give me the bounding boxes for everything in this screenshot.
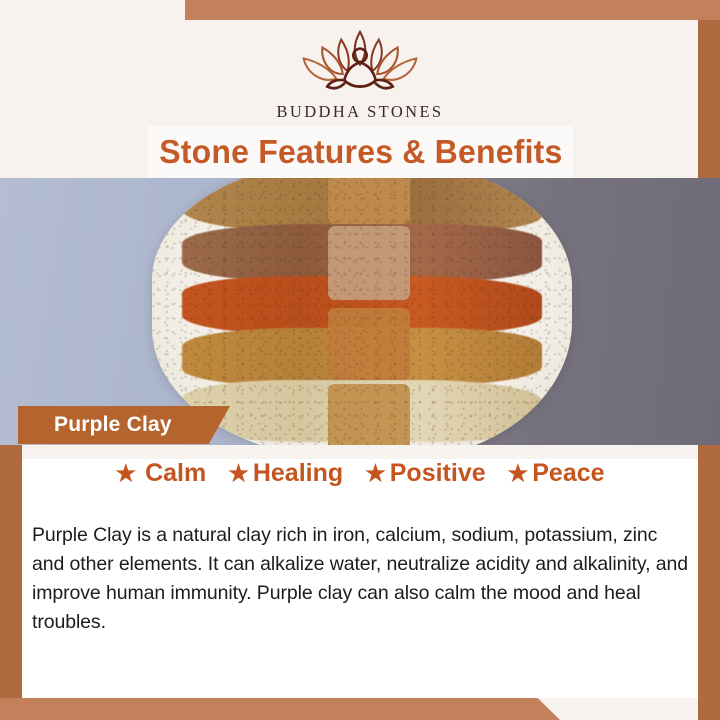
feature-item-healing: ★ Healing xyxy=(228,459,343,488)
frame-top-bar xyxy=(185,0,720,20)
feature-label: Positive xyxy=(390,459,486,488)
content-card: ★ Calm ★ Healing ★ Positive ★ Peace Purp… xyxy=(22,445,698,698)
star-icon: ★ xyxy=(508,462,529,485)
feature-list: ★ Calm ★ Healing ★ Positive ★ Peace xyxy=(22,459,698,488)
page-title: Stone Features & Benefits xyxy=(159,133,562,171)
infographic-page: BUDDHA STONES Stone Features & Benefits … xyxy=(0,0,720,720)
brand-name: BUDDHA STONES xyxy=(0,102,720,122)
frame-right-top-corner xyxy=(698,0,720,20)
star-icon: ★ xyxy=(228,462,249,485)
star-icon: ★ xyxy=(365,462,386,485)
brand-header: BUDDHA STONES xyxy=(0,24,720,122)
feature-label: Calm xyxy=(145,459,206,488)
star-icon: ★ xyxy=(115,462,136,485)
feature-item-positive: ★ Positive xyxy=(365,459,486,488)
feature-label: Healing xyxy=(253,459,343,488)
product-photo xyxy=(0,178,720,445)
product-description: Purple Clay is a natural clay rich in ir… xyxy=(32,521,692,637)
feature-item-calm: ★ Calm xyxy=(115,459,206,488)
frame-bottom-bar xyxy=(0,698,560,720)
clay-powder-plate xyxy=(152,178,572,445)
product-badge-label: Purple Clay xyxy=(18,413,172,437)
card-top-tint xyxy=(22,445,698,459)
product-badge: Purple Clay xyxy=(18,406,230,444)
title-band: Stone Features & Benefits xyxy=(148,126,573,178)
feature-item-peace: ★ Peace xyxy=(508,459,605,488)
feature-label: Peace xyxy=(532,459,604,488)
powder-grain-texture xyxy=(152,178,572,445)
lotus-meditation-icon xyxy=(280,24,440,96)
